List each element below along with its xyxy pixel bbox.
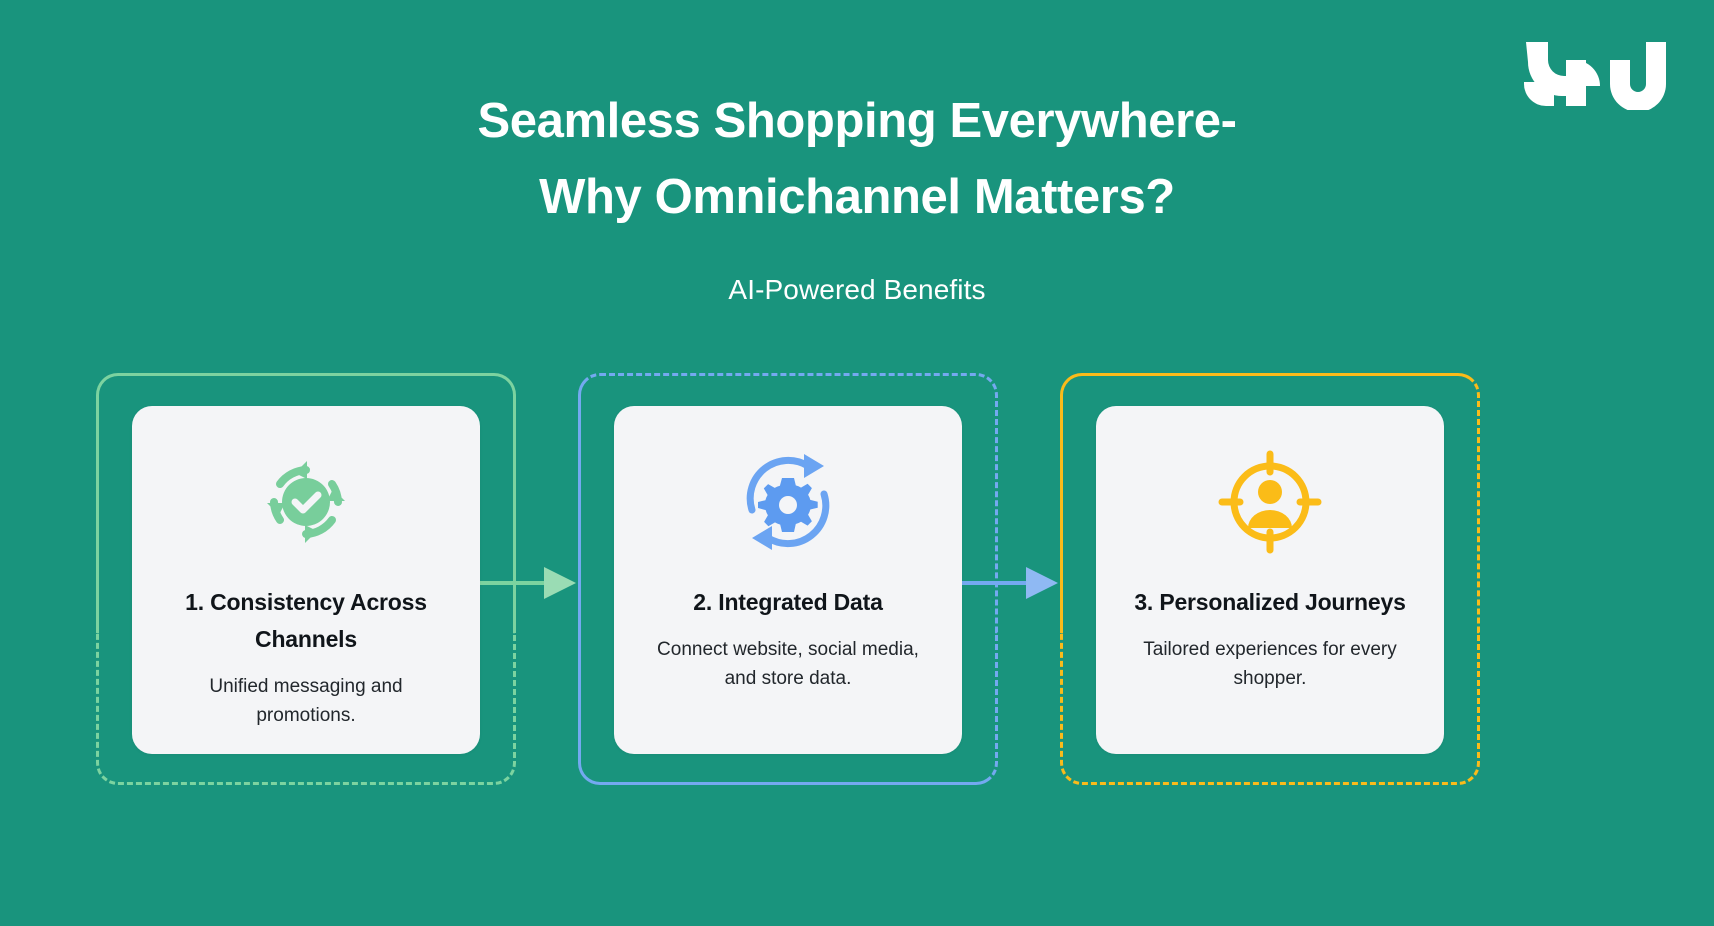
benefit-card-2-title: 2. Integrated Data — [640, 584, 936, 621]
benefit-card-3[interactable]: 3. Personalized Journeys Tailored experi… — [1096, 406, 1444, 754]
page-subtitle: AI-Powered Benefits — [0, 236, 1714, 306]
benefit-card-3-description: Tailored experiences for every shopper. — [1122, 635, 1418, 694]
benefit-card-1-description: Unified messaging and promotions. — [158, 672, 454, 731]
page-title: Seamless Shopping Everywhere- Why Omnich… — [0, 84, 1714, 236]
benefits-flow: 1. Consistency Across Channels Unified m… — [0, 373, 1714, 793]
gear-sync-icon — [640, 446, 936, 558]
benefit-card-2[interactable]: 2. Integrated Data Connect website, soci… — [614, 406, 962, 754]
benefit-card-1-title: 1. Consistency Across Channels — [158, 584, 454, 658]
page-title-line-2: Why Omnichannel Matters? — [539, 170, 1175, 224]
benefit-card-1[interactable]: 1. Consistency Across Channels Unified m… — [132, 406, 480, 754]
target-person-icon — [1122, 446, 1418, 558]
sync-check-icon — [158, 446, 454, 558]
header: Seamless Shopping Everywhere- Why Omnich… — [0, 84, 1714, 306]
page-title-line-1: Seamless Shopping Everywhere- — [477, 94, 1236, 148]
benefit-card-2-description: Connect website, social media, and store… — [640, 635, 936, 694]
benefit-card-3-title: 3. Personalized Journeys — [1122, 584, 1418, 621]
